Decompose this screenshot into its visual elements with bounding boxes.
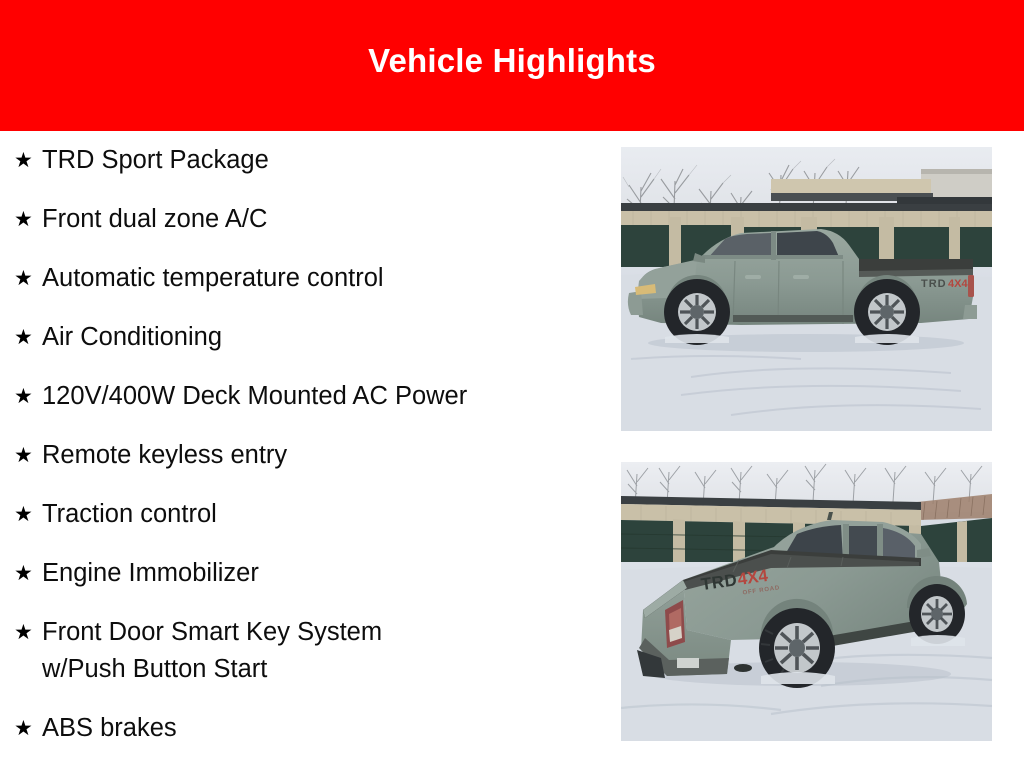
list-item-label: 120V/400W Deck Mounted AC Power	[42, 378, 612, 415]
star-bullet-icon: ★	[12, 142, 42, 179]
vehicle-photo-rear-quarter: TRD 4X4 OFF ROAD	[621, 462, 992, 741]
list-item: ★ Remote keyless entry	[12, 437, 612, 474]
list-item-label: TRD Sport Package	[42, 142, 612, 179]
star-bullet-icon: ★	[12, 555, 42, 592]
list-item: ★ TRD Sport Package	[12, 142, 612, 179]
list-item: ★ Air Conditioning	[12, 319, 612, 356]
vehicle-highlights-list: ★ TRD Sport Package ★ Front dual zone A/…	[12, 142, 612, 769]
star-bullet-icon: ★	[12, 378, 42, 415]
page-title: Vehicle Highlights	[368, 44, 656, 77]
list-item-label: Engine Immobilizer	[42, 555, 612, 592]
list-item: ★ Automatic temperature control	[12, 260, 612, 297]
star-bullet-icon: ★	[12, 437, 42, 474]
list-item: ★ Front dual zone A/C	[12, 201, 612, 238]
list-item-label: Remote keyless entry	[42, 437, 612, 474]
star-bullet-icon: ★	[12, 496, 42, 533]
list-item-label: Front Door Smart Key System w/Push Butto…	[42, 614, 612, 688]
star-bullet-icon: ★	[12, 710, 42, 747]
list-item: ★ 120V/400W Deck Mounted AC Power	[12, 378, 612, 415]
star-bullet-icon: ★	[12, 201, 42, 238]
list-item-label: Automatic temperature control	[42, 260, 612, 297]
list-item-label: Front dual zone A/C	[42, 201, 612, 238]
header-banner: Vehicle Highlights	[0, 0, 1024, 131]
list-item: ★ ABS brakes	[12, 710, 612, 747]
vehicle-photo-side-profile: TRD 4X4	[621, 147, 992, 431]
svg-text:4X4: 4X4	[948, 278, 968, 290]
svg-text:TRD: TRD	[921, 278, 947, 290]
star-bullet-icon: ★	[12, 614, 42, 651]
list-item: ★ Traction control	[12, 496, 612, 533]
star-bullet-icon: ★	[12, 260, 42, 297]
star-bullet-icon: ★	[12, 319, 42, 356]
list-item-label: Air Conditioning	[42, 319, 612, 356]
list-item-label: ABS brakes	[42, 710, 612, 747]
list-item-label: Traction control	[42, 496, 612, 533]
list-item: ★ Front Door Smart Key System w/Push But…	[12, 614, 612, 688]
list-item: ★ Engine Immobilizer	[12, 555, 612, 592]
